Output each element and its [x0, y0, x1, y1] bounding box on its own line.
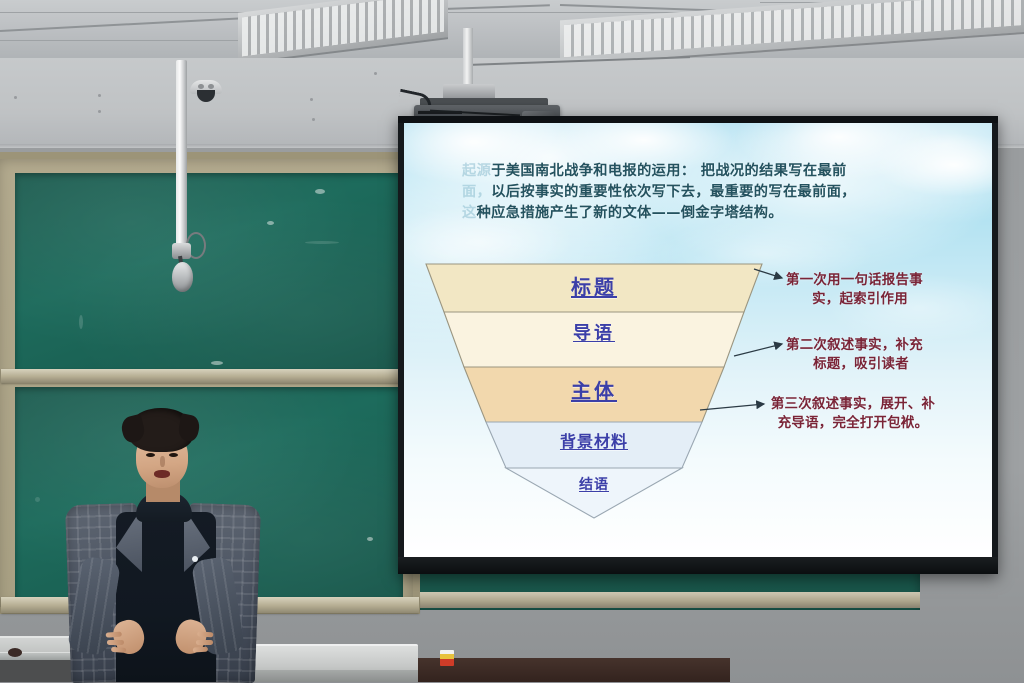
annotation-title: 第一次用一句话报告事 实，起索引作用 [786, 271, 934, 309]
pyramid-band-label-conclusion: 结语 [424, 474, 764, 494]
screen-top-bar [398, 116, 998, 123]
hair [128, 408, 194, 452]
inverted-pyramid-diagram: 标题 导语 主体 背景材料 结语 [424, 262, 764, 520]
annotation-lead-line-1: 第二次叙述事实，补充 [786, 338, 923, 353]
slide-paragraph-line-1: 于美国南北战争和电报的运用： 把战况的结果写在最前 [491, 163, 846, 179]
annotation-body-line-2: 充导语，完全打开包袱。 [778, 416, 929, 431]
slide-paragraph-faded-prefix: 起源 [462, 163, 491, 179]
chalk-box [440, 650, 454, 666]
presentation-slide: 起源于美国南北战争和电报的运用： 把战况的结果写在最前 面，以后按事实的重要性依… [404, 123, 992, 557]
annotation-title-line-1: 第一次用一句话报告事 [786, 273, 923, 288]
slide-paragraph-line-3-faded: 这 [462, 205, 477, 221]
slide-paragraph: 起源于美国南北战争和电报的运用： 把战况的结果写在最前 面，以后按事实的重要性依… [462, 161, 972, 224]
chalkboard-middle-rail [1, 369, 419, 383]
hanging-ceiling-microphone [172, 262, 193, 292]
screen-bottom-bar [398, 557, 998, 574]
pyramid-band-label-title: 标题 [424, 271, 764, 300]
annotation-lead-line-2: 标题，吸引读者 [786, 355, 936, 374]
slide-paragraph-line-2-faded: 面， [462, 184, 491, 200]
chalkboard-right-rail [400, 592, 920, 608]
slide-paragraph-line-3: 种应急措施产生了新的文体——倒金字塔结构。 [477, 205, 783, 221]
lapel-pin [192, 556, 198, 562]
pyramid-band-label-body: 主体 [424, 375, 764, 404]
annotation-body: 第三次叙述事实，展开、补 充导语，完全打开包袱。 [770, 395, 936, 433]
annotation-body-line-1: 第三次叙述事实，展开、补 [771, 397, 935, 412]
projection-screen[interactable]: 起源于美国南北战争和电报的运用： 把战况的结果写在最前 面，以后按事实的重要性依… [398, 116, 998, 574]
classroom-scene: 起源于美国南北战争和电报的运用： 把战况的结果写在最前 面，以后按事实的重要性依… [0, 0, 1024, 682]
slide-paragraph-line-2: 以后按事实的重要性依次写下去，最重要的写在最前面， [491, 184, 856, 200]
podium-knob [8, 648, 22, 657]
annotation-lead: 第二次叙述事实，补充 标题，吸引读者 [786, 336, 936, 374]
pyramid-band-label-background: 背景材料 [424, 428, 764, 452]
chalkboard-upper-panel [15, 173, 403, 373]
annotation-title-line-2: 实，起索引作用 [786, 290, 934, 309]
pyramid-band-label-lead: 导语 [424, 319, 764, 345]
lecturer [58, 408, 268, 682]
dome-security-camera [190, 80, 222, 102]
projector-mount-pole [463, 28, 473, 86]
microphone-pole [176, 60, 187, 255]
